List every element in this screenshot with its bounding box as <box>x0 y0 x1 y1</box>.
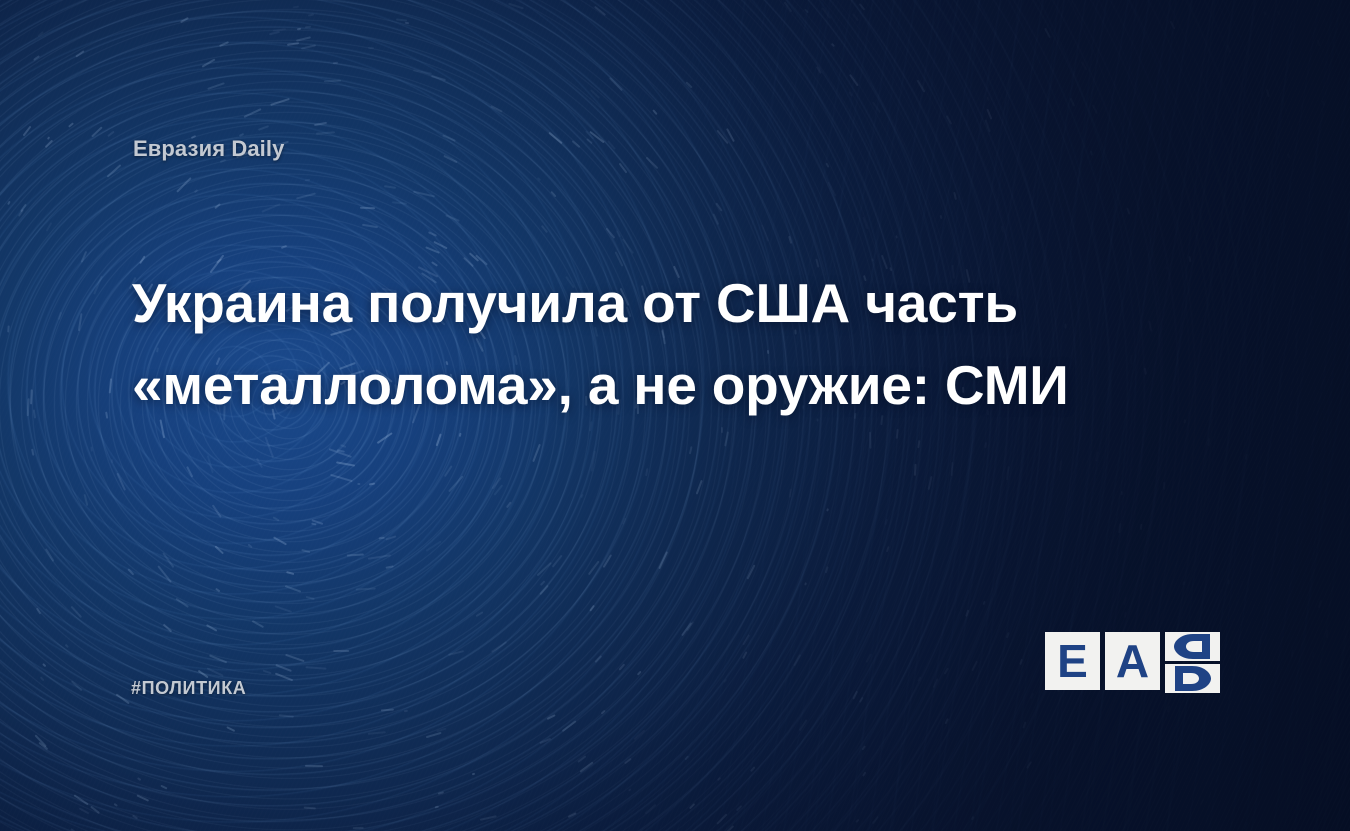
headline-line-2: «металлолома», а не оружие: СМИ <box>132 344 1112 426</box>
eadaily-logo[interactable]: E A <box>1045 632 1220 693</box>
headline: Украина получила от США часть «металлоло… <box>132 262 1112 426</box>
logo-tile-a: A <box>1105 632 1160 690</box>
logo-letter-a: A <box>1116 638 1149 684</box>
logo-tile-d-lower <box>1165 664 1220 693</box>
logo-tile-d-upper <box>1165 632 1220 661</box>
logo-tile-e: E <box>1045 632 1100 690</box>
poster-content: Евразия Daily Украина получила от США ча… <box>0 0 1350 831</box>
d-glyph-icon <box>1165 632 1220 661</box>
logo-tile-d-stack <box>1165 632 1220 693</box>
d-glyph-icon <box>1165 664 1220 693</box>
logo-letter-e: E <box>1057 638 1088 684</box>
brand-wordmark: Евразия Daily <box>133 136 284 162</box>
category-hashtag: #ПОЛИТИКА <box>131 678 246 699</box>
news-poster-card: Евразия Daily Украина получила от США ча… <box>0 0 1350 831</box>
headline-line-1: Украина получила от США часть <box>132 262 1112 344</box>
